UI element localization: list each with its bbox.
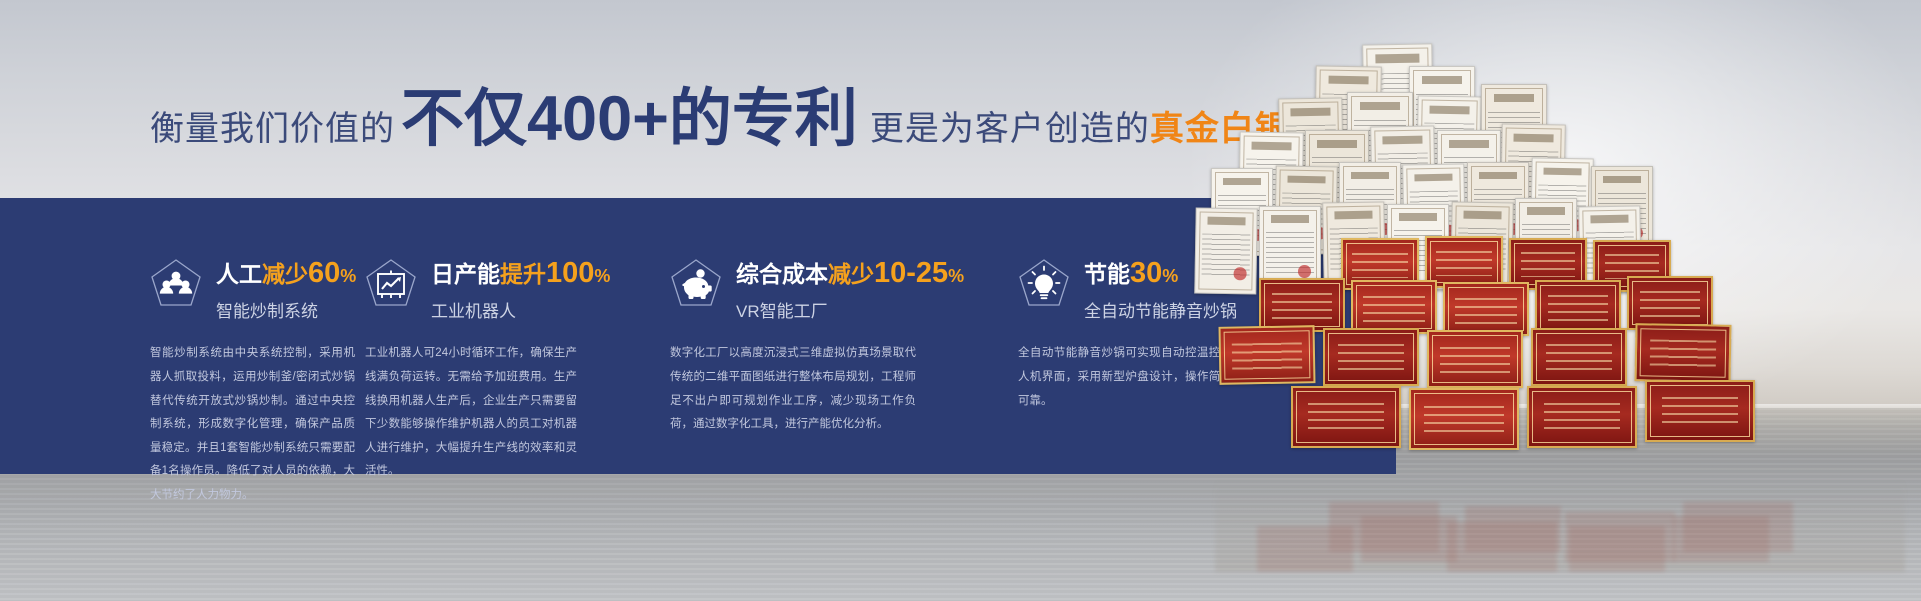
feature-title: 人工减少60% <box>216 258 356 288</box>
certificate-item <box>1291 386 1401 448</box>
feature-body: 智能炒制系统由中央系统控制，采用机器人抓取投料，运用炒制釜/密闭式炒锅替代传统开… <box>150 342 355 507</box>
certificate-reflection-item <box>1447 522 1557 572</box>
certificate-item <box>1323 328 1419 386</box>
feature-title-highlight: 减少 <box>828 261 874 287</box>
feature-title-number: 100 <box>546 257 594 289</box>
certificate-item <box>1645 380 1755 442</box>
feature-title-prefix: 人工 <box>216 261 262 287</box>
certificate-item <box>1527 386 1637 448</box>
certificate-item <box>1427 330 1523 388</box>
certificate-reflection-item <box>1329 502 1439 552</box>
certificate-item <box>1635 323 1732 383</box>
feature-subtitle: 工业机器人 <box>431 297 610 322</box>
feature-title-highlight: 减少 <box>262 261 308 287</box>
feature-panel: 人工减少60% 智能炒制系统 智能炒制系统由中央系统控制，采用机器人抓取投料，运… <box>0 198 1396 474</box>
feature-subtitle: 智能炒制系统 <box>216 297 356 322</box>
banner-stage: 衡量我们价值的 不仅400+的专利 更是为客户创造的 真金白银的效益 <box>0 0 1921 601</box>
feature-header: 人工减少60% 智能炒制系统 <box>150 256 340 322</box>
feature-item-labor: 人工减少60% 智能炒制系统 智能炒制系统由中央系统控制，采用机器人抓取投料，运… <box>0 198 340 474</box>
feature-title-number: 30 <box>1130 257 1162 289</box>
feature-title: 综合成本减少10-25% <box>736 258 964 288</box>
feature-title-percent: % <box>948 266 964 286</box>
feature-title-number: 10-25 <box>874 257 948 289</box>
certificate-wall <box>1195 40 1921 460</box>
certificate-item <box>1443 282 1529 336</box>
team-people-icon <box>150 258 202 314</box>
feature-title-prefix: 综合成本 <box>736 261 828 287</box>
feature-list: 人工减少60% 智能炒制系统 智能炒制系统由中央系统控制，采用机器人抓取投料，运… <box>0 198 1396 474</box>
headline-middle: 更是为客户创造的 <box>864 112 1150 146</box>
certificate-item <box>1627 276 1713 330</box>
piggy-bank-icon <box>670 258 722 314</box>
feature-title-percent: % <box>1162 266 1178 286</box>
feature-subtitle: VR智能工厂 <box>736 297 964 322</box>
page-headline: 衡量我们价值的 不仅400+的专利 更是为客户创造的 真金白银的效益 <box>150 88 1395 151</box>
chart-board-icon <box>365 258 417 314</box>
feature-title-percent: % <box>594 266 610 286</box>
feature-title-number: 60 <box>308 257 340 289</box>
feature-body: 工业机器人可24小时循环工作，确保生产线满负荷运转。无需给予加班费用。生产线换用… <box>365 342 577 483</box>
feature-titles: 日产能提升100% 工业机器人 <box>431 256 610 322</box>
feature-title-prefix: 节能 <box>1084 261 1130 287</box>
feature-titles: 人工减少60% 智能炒制系统 <box>216 256 356 322</box>
feature-header: 综合成本减少10-25% VR智能工厂 <box>670 256 1000 322</box>
certificate-reflection-item <box>1683 502 1793 552</box>
certificate-item <box>1194 207 1257 294</box>
certificate-reflection-item <box>1565 512 1675 562</box>
certificate-item <box>1351 280 1437 334</box>
feature-titles: 综合成本减少10-25% VR智能工厂 <box>736 256 964 322</box>
headline-prefix: 衡量我们价值的 <box>150 112 395 146</box>
feature-body: 数字化工厂以高度沉浸式三维虚拟仿真场景取代传统的二维平面图纸进行整体布局规划，工… <box>670 342 916 436</box>
certificate-item <box>1259 278 1345 332</box>
certificate-item <box>1535 280 1621 334</box>
feature-title: 日产能提升100% <box>431 258 610 288</box>
feature-subtitle: 全自动节能静音炒锅 <box>1084 297 1237 322</box>
certificate-item <box>1409 388 1519 450</box>
feature-item-cost: 综合成本减少10-25% VR智能工厂 数字化工厂以高度沉浸式三维虚拟仿真场景取… <box>650 198 1000 474</box>
feature-title-prefix: 日产能 <box>431 261 500 287</box>
feature-header: 日产能提升100% 工业机器人 <box>365 256 650 322</box>
light-bulb-icon <box>1018 258 1070 314</box>
feature-item-capacity: 日产能提升100% 工业机器人 工业机器人可24小时循环工作，确保生产线满负荷运… <box>340 198 650 474</box>
certificate-item <box>1531 328 1627 386</box>
feature-title-highlight: 提升 <box>500 261 546 287</box>
headline-emphasis: 不仅400+的专利 <box>395 88 864 151</box>
certificate-item <box>1219 325 1316 385</box>
